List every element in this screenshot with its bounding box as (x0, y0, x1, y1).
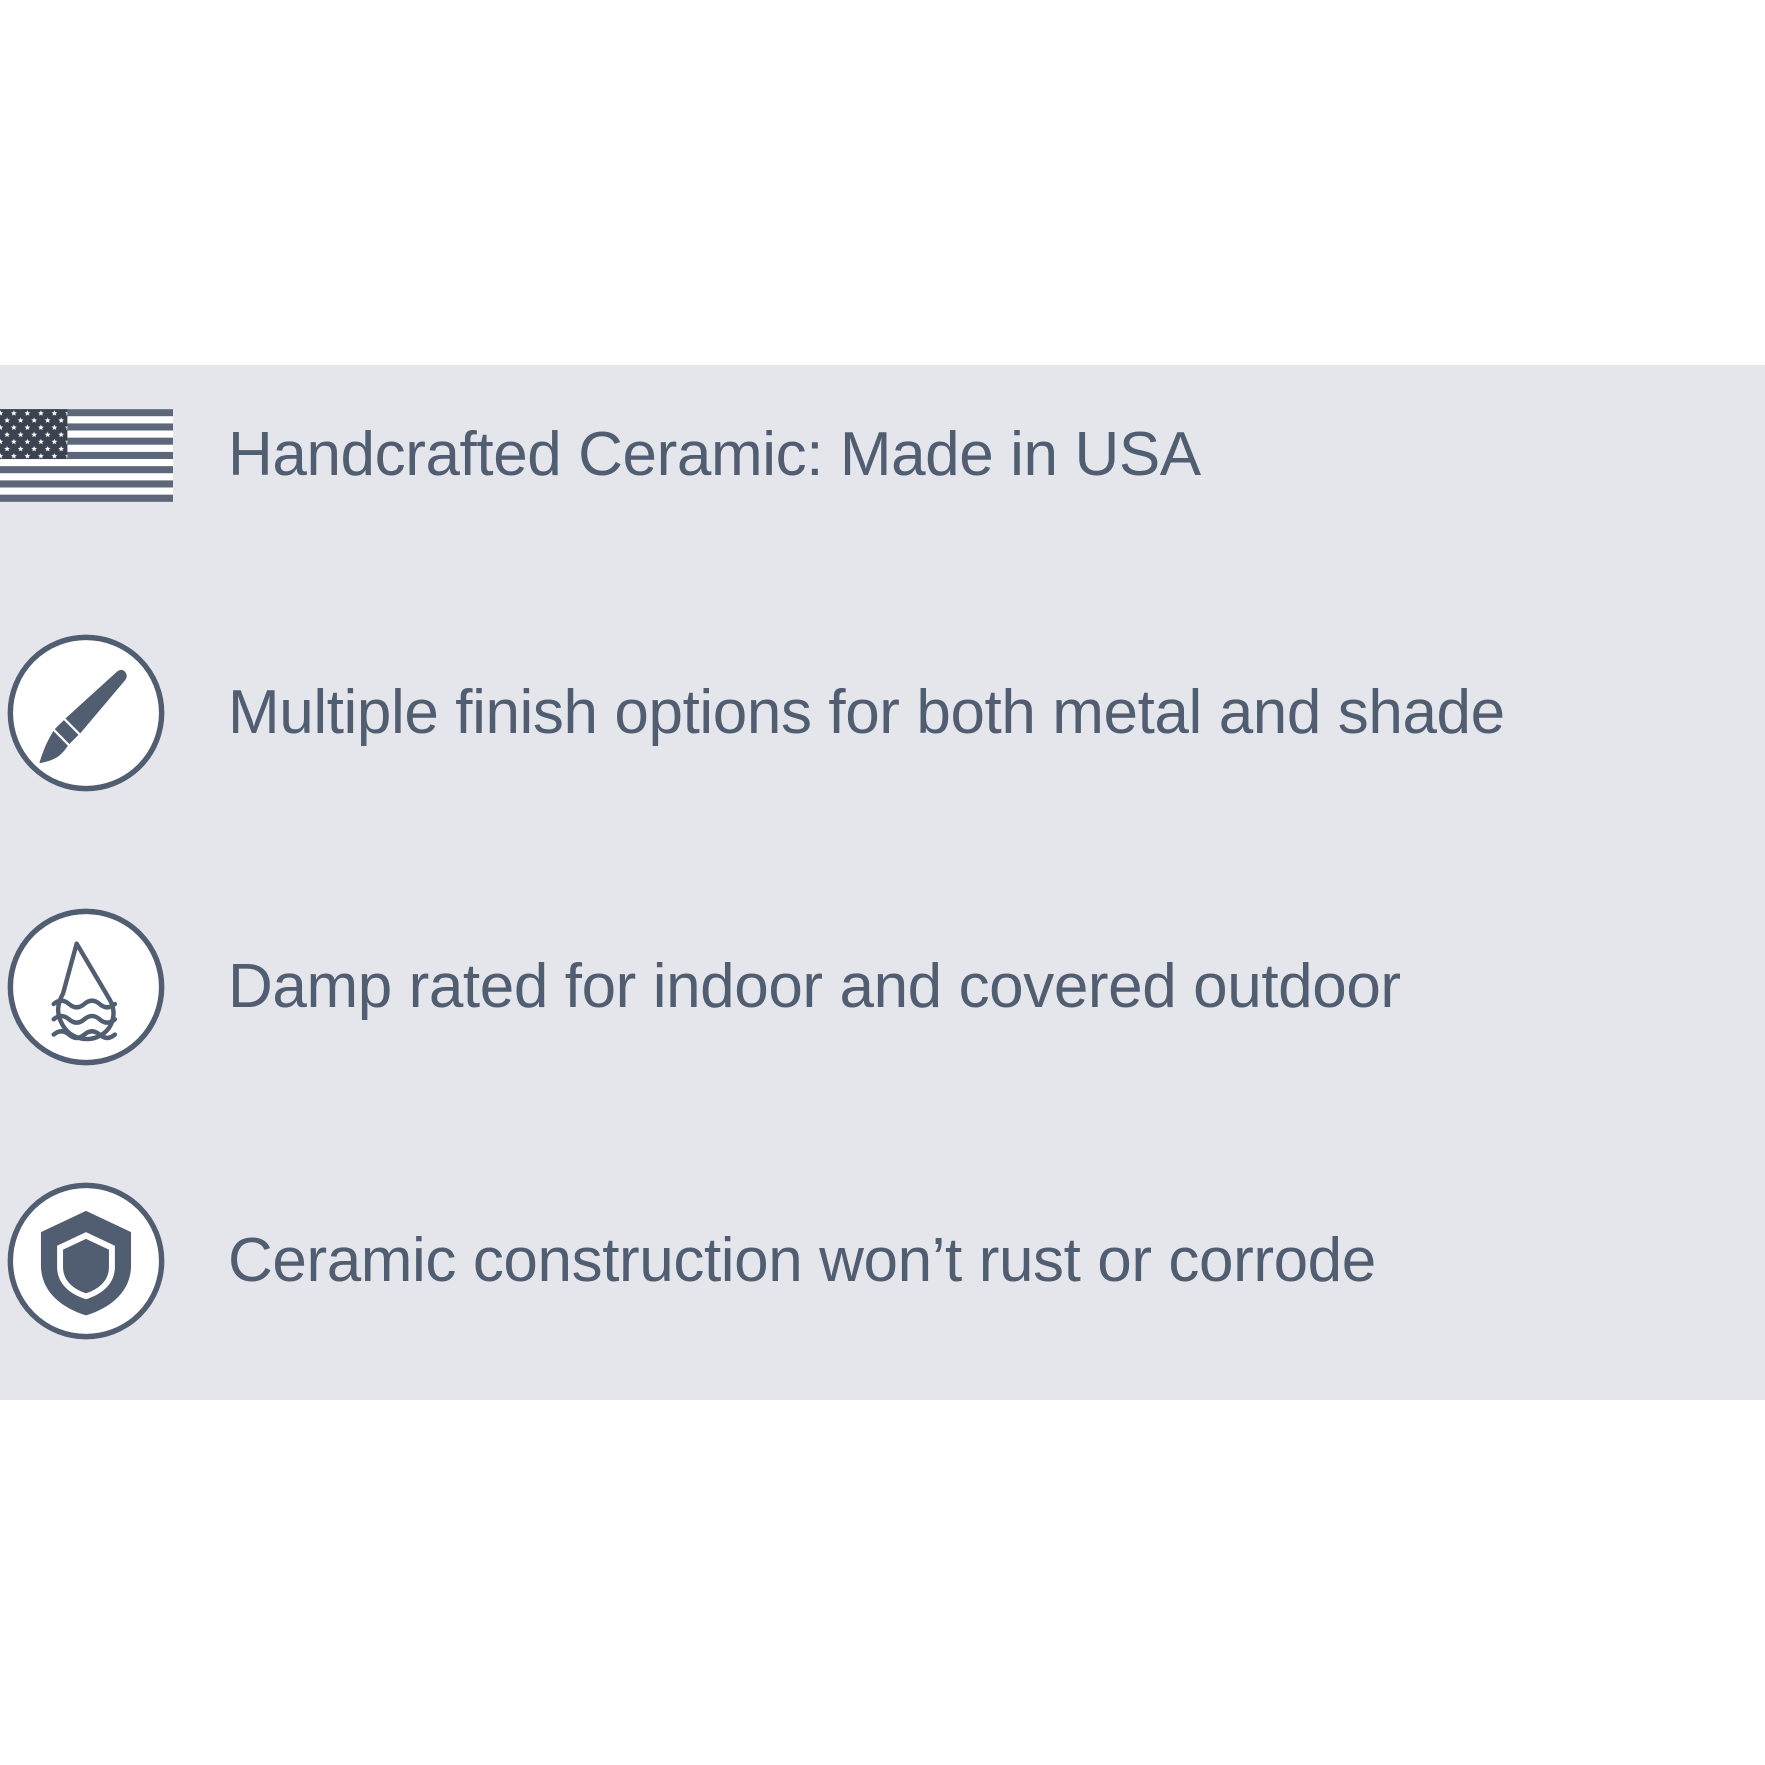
feature-icon-slot (0, 365, 173, 545)
feature-text: Damp rated for indoor and covered outdoo… (228, 954, 1765, 1019)
feature-list-graphic: Handcrafted Ceramic: Made in USA Mu (0, 0, 1765, 1765)
feature-row: Handcrafted Ceramic: Made in USA (0, 365, 1765, 545)
feature-icon-slot (0, 1171, 173, 1351)
shield-icon (1, 1176, 171, 1346)
water-drop-icon (1, 902, 171, 1072)
paintbrush-icon (1, 628, 171, 798)
feature-row: Ceramic construction won’t rust or corro… (0, 1171, 1765, 1351)
feature-text: Ceramic construction won’t rust or corro… (228, 1228, 1765, 1293)
feature-text: Handcrafted Ceramic: Made in USA (228, 422, 1765, 487)
feature-text: Multiple finish options for both metal a… (228, 680, 1765, 745)
feature-row: Multiple finish options for both metal a… (0, 623, 1765, 803)
usa-flag-icon (0, 409, 173, 502)
feature-row: Damp rated for indoor and covered outdoo… (0, 897, 1765, 1077)
feature-icon-slot (0, 897, 173, 1077)
feature-icon-slot (0, 623, 173, 803)
feature-panel: Handcrafted Ceramic: Made in USA Mu (0, 365, 1765, 1400)
